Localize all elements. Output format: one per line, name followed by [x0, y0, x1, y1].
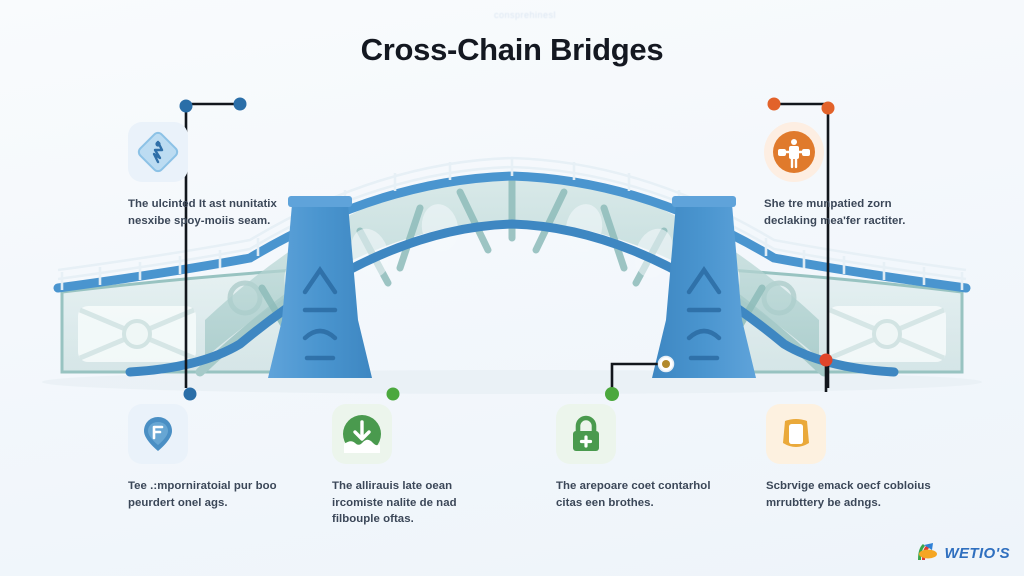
connector-bottom-4 [818, 352, 834, 400]
callout-bottom-2[interactable]: The allirauis late oean ircomiste nalite… [332, 404, 500, 528]
callout-text: Tee .:mporniratoial pur boo peurdert one… [128, 478, 296, 511]
callout-top-right[interactable]: She tre munpatied zorn declaking mea'fer… [764, 122, 932, 229]
mobile-device-icon [766, 404, 826, 464]
shield-pin-icon [128, 404, 188, 464]
callout-text: Scbrvige emack oecf cobloius mrrubttery … [766, 478, 934, 511]
ghost-artifact-text: consprehinesl [470, 10, 580, 20]
padlock-icon [556, 404, 616, 464]
diamond-badge-icon [128, 122, 188, 182]
callout-bottom-4[interactable]: Scbrvige emack oecf cobloius mrrubttery … [766, 404, 934, 511]
network-node-icon [764, 122, 824, 182]
watermark-text: WETIO'S [944, 545, 1010, 562]
callout-top-left[interactable]: The ulcinted It ast nunitatix nesxibe sp… [128, 122, 296, 229]
callout-text: The allirauis late oean ircomiste nalite… [332, 478, 500, 528]
callout-bottom-3[interactable]: The arepoare coet contarhol citas een br… [556, 404, 724, 511]
connector-bottom-3 [604, 356, 678, 402]
watermark: WETIO'S [913, 540, 1010, 566]
callout-text: She tre munpatied zorn declaking mea'fer… [764, 196, 932, 229]
callout-bottom-1[interactable]: Tee .:mporniratoial pur boo peurdert one… [128, 404, 296, 511]
connector-bottom-2 [385, 386, 401, 402]
download-arrow-icon [332, 404, 392, 464]
connector-bottom-1 [182, 386, 198, 402]
callout-text: The arepoare coet contarhol citas een br… [556, 478, 724, 511]
page-title: Cross-Chain Bridges [0, 32, 1024, 68]
infographic-canvas: consprehinesl Cross-Chain Bridges [0, 0, 1024, 576]
wetios-logo-mark [913, 540, 939, 566]
callout-text: The ulcinted It ast nunitatix nesxibe sp… [128, 196, 296, 229]
